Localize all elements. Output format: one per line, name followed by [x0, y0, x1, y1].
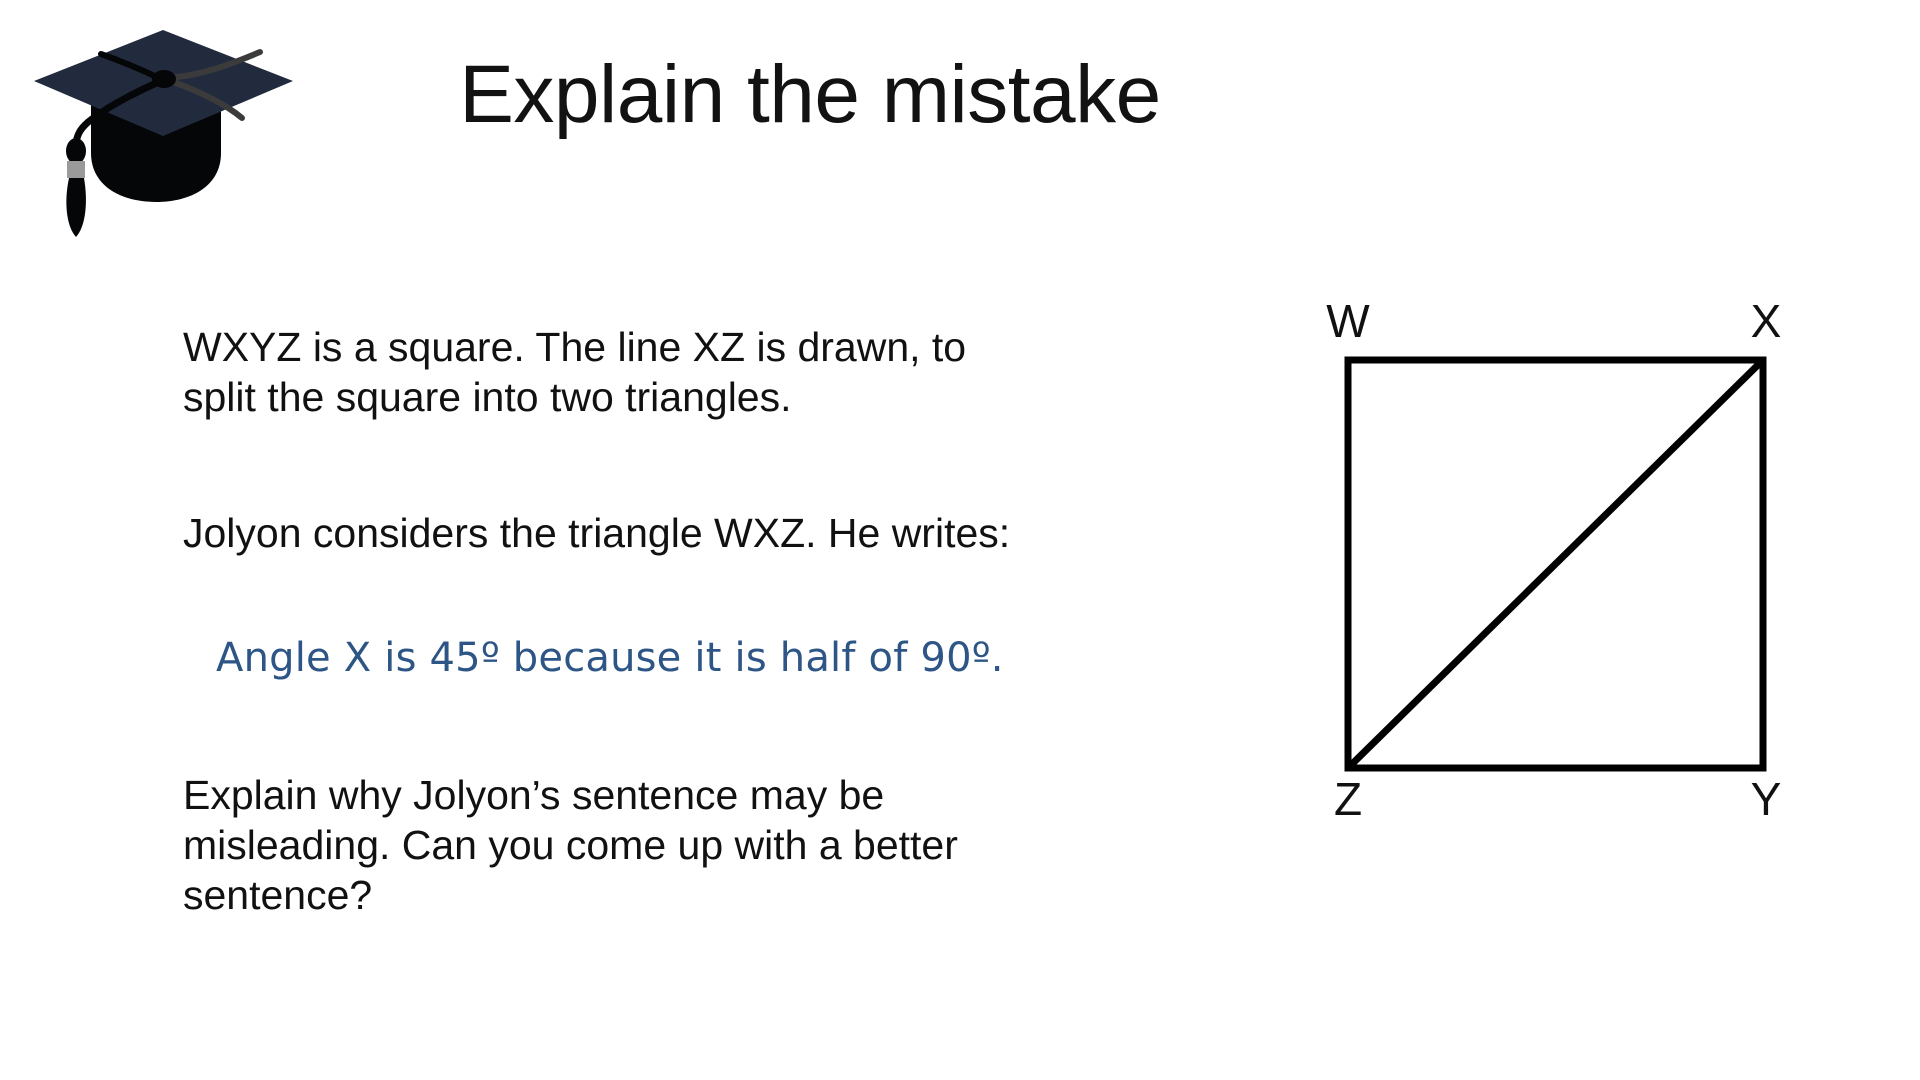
vertex-label-y: Y [1751, 773, 1782, 825]
graduation-cap-icon [28, 18, 298, 243]
slide-canvas: Explain the mistake WXYZ is a square. Th… [0, 0, 1920, 1080]
vertex-label-w: W [1326, 295, 1370, 347]
slide-title: Explain the mistake [360, 50, 1260, 140]
vertex-label-x: X [1751, 295, 1782, 347]
jolyon-quote: Angle X is 45º because it is half of 90º… [216, 636, 1004, 680]
paragraph-intro-line-1: WXYZ is a square. The line XZ is drawn, … [183, 322, 966, 372]
vertex-label-z: Z [1334, 773, 1362, 825]
paragraph-explain-line-3: sentence? [183, 870, 958, 920]
paragraph-jolyon-line-1: Jolyon considers the triangle WXZ. He wr… [183, 508, 1010, 558]
paragraph-jolyon: Jolyon considers the triangle WXZ. He wr… [183, 508, 1010, 558]
paragraph-explain-line-1: Explain why Jolyon’s sentence may be [183, 770, 958, 820]
jolyon-quote-text: Angle X is 45º because it is half of 90º… [216, 635, 1004, 681]
square-diagram: W X Y Z [1285, 285, 1825, 845]
paragraph-explain-line-2: misleading. Can you come up with a bette… [183, 820, 958, 870]
paragraph-intro: WXYZ is a square. The line XZ is drawn, … [183, 322, 966, 422]
diagonal-xz [1348, 360, 1763, 768]
paragraph-intro-line-2: split the square into two triangles. [183, 372, 966, 422]
paragraph-explain: Explain why Jolyon’s sentence may be mis… [183, 770, 958, 920]
